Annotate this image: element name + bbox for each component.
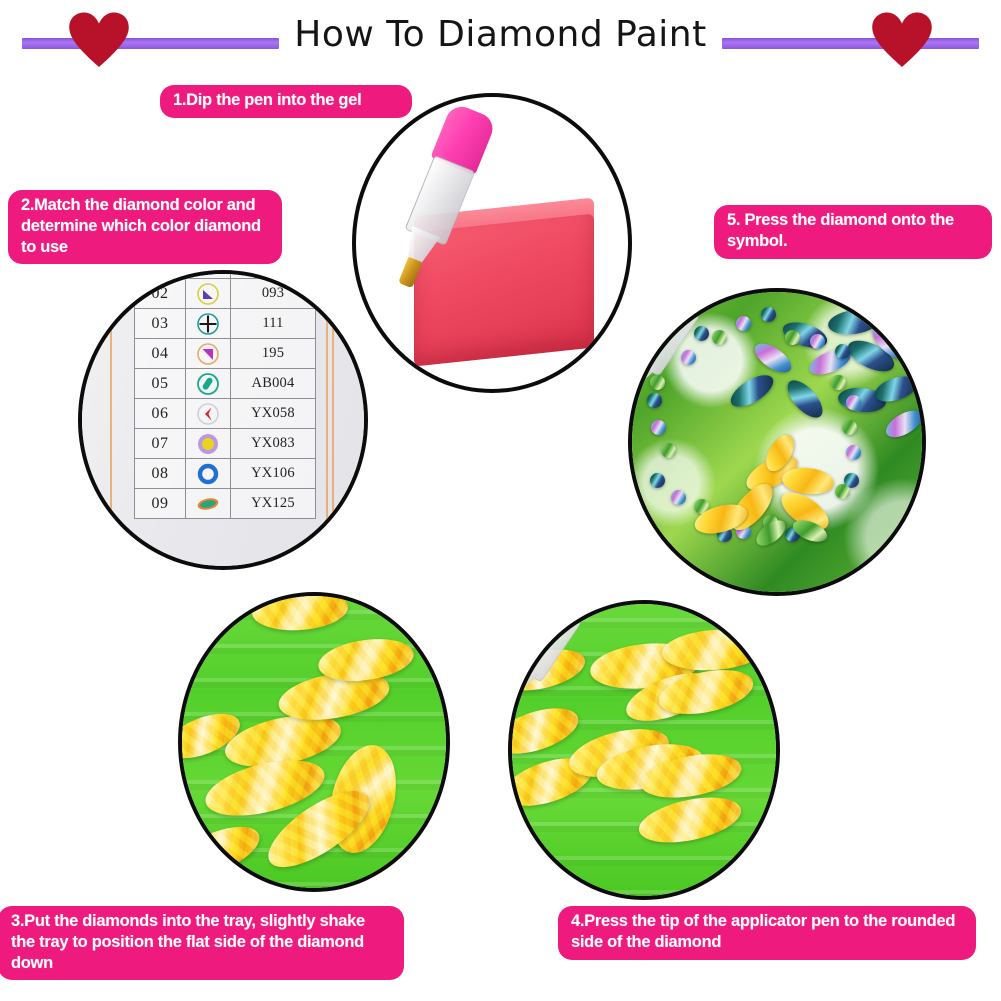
canvas-gem bbox=[712, 330, 727, 345]
canvas-gem bbox=[842, 420, 857, 435]
photo-pressing-onto-canvas-inner bbox=[632, 292, 922, 592]
chart-row-number: 02 bbox=[135, 279, 186, 309]
chart-row-code: YX083 bbox=[231, 429, 316, 459]
canvas-gem bbox=[681, 350, 696, 365]
canvas-gem bbox=[650, 473, 665, 488]
step-4-label: 4.Press the tip of the applicator pen to… bbox=[558, 906, 976, 960]
chart-margin-rule-right-2 bbox=[326, 274, 328, 566]
canvas-gem bbox=[831, 375, 846, 390]
canvas-gem bbox=[736, 316, 751, 331]
table-row: 06YX058 bbox=[135, 399, 316, 429]
page-title: How To Diamond Paint bbox=[0, 14, 1001, 55]
table-row: 09YX125 bbox=[135, 489, 316, 519]
canvas-gem bbox=[761, 307, 776, 322]
chart-row-number: 03 bbox=[135, 309, 186, 339]
photo-diamonds-in-tray-inner bbox=[182, 596, 446, 888]
photo-color-chart: 02602093031110419505AB00406YX05807YX0830… bbox=[78, 270, 368, 570]
canvas-gem bbox=[810, 334, 825, 349]
photo-diamonds-in-tray bbox=[178, 592, 450, 892]
leaf-eye-symbol bbox=[186, 489, 231, 519]
step-5-label: 5. Press the diamond onto the symbol. bbox=[714, 205, 992, 259]
photo-pen-picking-diamond-inner bbox=[512, 604, 776, 896]
open-ring-symbol bbox=[186, 459, 231, 489]
plus-cross-symbol bbox=[186, 309, 231, 339]
canvas-gem bbox=[671, 490, 686, 505]
chart-paper: 02602093031110419505AB00406YX05807YX0830… bbox=[82, 274, 364, 566]
table-row: 02093 bbox=[135, 279, 316, 309]
photo-pressing-onto-canvas bbox=[628, 288, 926, 596]
canvas-gem bbox=[785, 330, 800, 345]
chart-row-code: 111 bbox=[231, 309, 316, 339]
canvas-gem bbox=[651, 420, 666, 435]
canvas-gem bbox=[661, 443, 676, 458]
step-2-label: 2.Match the diamond color and determine … bbox=[8, 190, 282, 264]
chart-row-code: 195 bbox=[231, 339, 316, 369]
chart-margin-rule-right bbox=[332, 274, 334, 566]
chart-row-code: AB004 bbox=[231, 369, 316, 399]
canvas-gem bbox=[835, 484, 850, 499]
pen-tip bbox=[398, 257, 422, 289]
chart-row-code: YX058 bbox=[231, 399, 316, 429]
table-row: 03111 bbox=[135, 309, 316, 339]
chart-row-number: 07 bbox=[135, 429, 186, 459]
chart-row-number: 08 bbox=[135, 459, 186, 489]
chart-row-number: 06 bbox=[135, 399, 186, 429]
chart-row-code: YX125 bbox=[231, 489, 316, 519]
triangle-flag-symbol bbox=[186, 279, 231, 309]
photo-pen-in-gel bbox=[352, 93, 632, 393]
filled-dot-ring-symbol bbox=[186, 429, 231, 459]
filled-triangle-symbol bbox=[186, 339, 231, 369]
color-symbol-table: 02602093031110419505AB00406YX05807YX0830… bbox=[134, 274, 316, 519]
slanted-capsule-symbol bbox=[186, 369, 231, 399]
canvas-gem bbox=[694, 326, 709, 341]
chart-row-number: 05 bbox=[135, 369, 186, 399]
chart-margin-rule-left bbox=[110, 274, 112, 566]
table-row: 05AB004 bbox=[135, 369, 316, 399]
chart-row-code: YX106 bbox=[231, 459, 316, 489]
table-row: 07YX083 bbox=[135, 429, 316, 459]
chart-row-number: 04 bbox=[135, 339, 186, 369]
chart-row-code: 093 bbox=[231, 279, 316, 309]
left-chevron-symbol bbox=[186, 399, 231, 429]
infographic-canvas: How To Diamond Paint 1.Dip the pen into … bbox=[0, 0, 1001, 1001]
canvas-gem bbox=[835, 344, 850, 359]
photo-pen-picking-diamond bbox=[508, 600, 780, 900]
table-row: 04195 bbox=[135, 339, 316, 369]
chart-row-number: 09 bbox=[135, 489, 186, 519]
photo-color-chart-inner: 02602093031110419505AB00406YX05807YX0830… bbox=[82, 274, 364, 566]
table-row: 08YX106 bbox=[135, 459, 316, 489]
photo-pen-in-gel-inner bbox=[356, 97, 628, 389]
canvas-gem bbox=[846, 445, 861, 460]
canvas-gem bbox=[846, 395, 861, 410]
step-3-label: 3.Put the diamonds into the tray, slight… bbox=[0, 906, 404, 980]
